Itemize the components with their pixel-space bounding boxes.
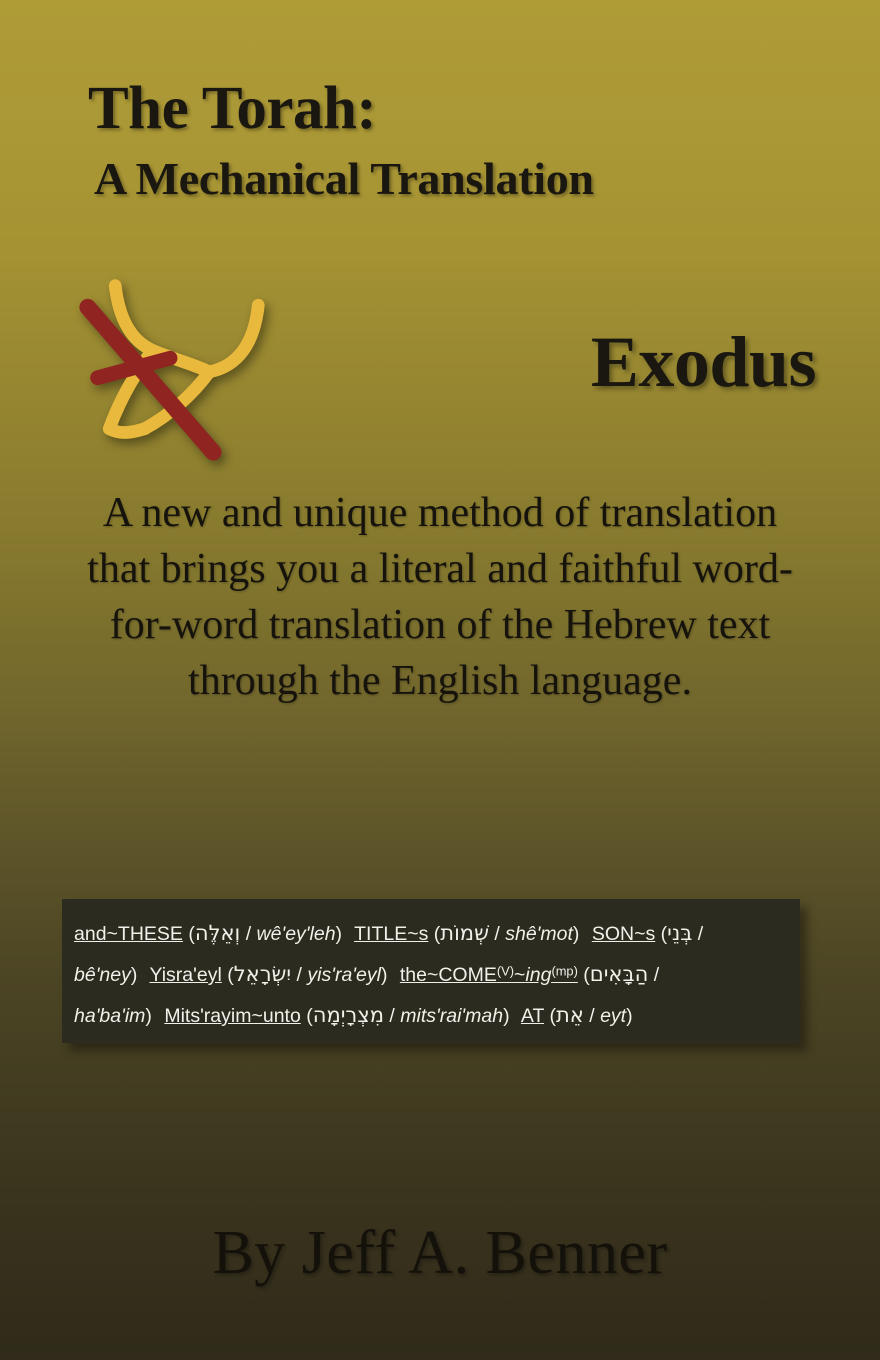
translit-habaim: ha'ba'im [74, 1005, 145, 1027]
sep-7: / [584, 1005, 600, 1027]
tagline-line-3: for-word translation of the Hebrew text [44, 598, 836, 654]
author-byline: By Jeff A. Benner [0, 1218, 880, 1289]
gloss-verb-marker: (V) [497, 964, 514, 979]
paren-open-4: ( [222, 964, 234, 986]
gloss-the-coming: the~COME(V)~ing(mp) [400, 964, 578, 986]
paren-open-6: ( [301, 1005, 313, 1027]
sample-text-box: and~THESE (וְאֵלֶּה / wê'ey'leh) TITLE~s… [62, 899, 800, 1043]
translit-eyt: eyt [600, 1005, 626, 1027]
paren-close-4: ) [381, 964, 388, 986]
sample-text-line-2: bê'ney) Yisra'eyl (יִשְׂרָאֵל / yis'ra'e… [74, 954, 788, 995]
tagline-line-1: A new and unique method of translation [44, 486, 836, 542]
translit-yisraeyl: yis'ra'eyl [307, 964, 381, 986]
paren-open-3: ( [655, 923, 667, 945]
paren-close-7: ) [626, 1005, 633, 1027]
tagline-line-2: that brings you a literal and faithful w… [44, 542, 836, 598]
book-cover: The Torah: A Mechanical Translation Exod… [0, 0, 880, 1360]
paren-close-6: ) [503, 1005, 510, 1027]
gloss-yisraeyl: Yisra'eyl [149, 964, 221, 986]
gloss-titles: TITLE~s [354, 923, 428, 945]
translit-shemot: shê'mot [505, 923, 573, 945]
paren-open-7: ( [544, 1005, 556, 1027]
sep-5: / [648, 964, 659, 986]
tagline: A new and unique method of translation t… [44, 486, 836, 709]
paren-close-1: ) [336, 923, 343, 945]
sep-2: / [489, 923, 505, 945]
tagline-line-4: through the English language. [44, 654, 836, 710]
paren-open-1: ( [183, 923, 195, 945]
sep-6: / [384, 1005, 400, 1027]
sample-text-line-1: and~THESE (וְאֵלֶּה / wê'ey'leh) TITLE~s… [74, 913, 788, 954]
hebrew-yisrael: יִשְׂרָאֵל [234, 962, 291, 986]
translit-mitsraimah: mits'rai'mah [400, 1005, 503, 1027]
hebrew-weeleh: וְאֵלֶּה [195, 921, 240, 945]
sep-3: / [692, 923, 703, 945]
page-title: The Torah: [88, 78, 788, 139]
paren-close-3: ) [131, 964, 138, 986]
hebrew-habaim: הַבָּאִים [590, 962, 649, 986]
gloss-at: AT [521, 1005, 544, 1027]
hebrew-beney: בְּנֵי [667, 921, 692, 945]
gloss-the-come-text: the~COME [400, 964, 497, 986]
paren-close-2: ) [573, 923, 580, 945]
book-name: Exodus [591, 326, 816, 398]
sample-text-line-3: ha'ba'im) Mits'rayim~unto (מִצְרָיְמָה /… [74, 995, 788, 1036]
page-subtitle: A Mechanical Translation [94, 155, 788, 203]
paren-close-5: ) [145, 1005, 152, 1027]
hebrew-eyt: אֵת [556, 1003, 584, 1027]
hebrew-shemot: שְׁמוֹת [440, 921, 489, 945]
gloss-and-these: and~THESE [74, 923, 183, 945]
translit-weeyleh: wê'ey'leh [257, 923, 336, 945]
translit-beney: bê'ney [74, 964, 131, 986]
gloss-sons: SON~s [592, 923, 655, 945]
title-block: The Torah: A Mechanical Translation [88, 78, 788, 203]
gloss-tilde: ~ [514, 964, 525, 986]
paren-open-2: ( [428, 923, 440, 945]
gloss-ing-suffix: ing [525, 964, 551, 986]
gloss-mp-marker: (mp) [551, 964, 577, 979]
hebrew-mitsraimah: מִצְרָיְמָה [313, 1003, 384, 1027]
ancient-hebrew-pictograph-logo [76, 268, 272, 464]
sep-4: / [291, 964, 307, 986]
paren-open-5: ( [578, 964, 590, 986]
gloss-mitsrayim-unto: Mits'rayim~unto [164, 1005, 300, 1027]
sep-1: / [240, 923, 256, 945]
